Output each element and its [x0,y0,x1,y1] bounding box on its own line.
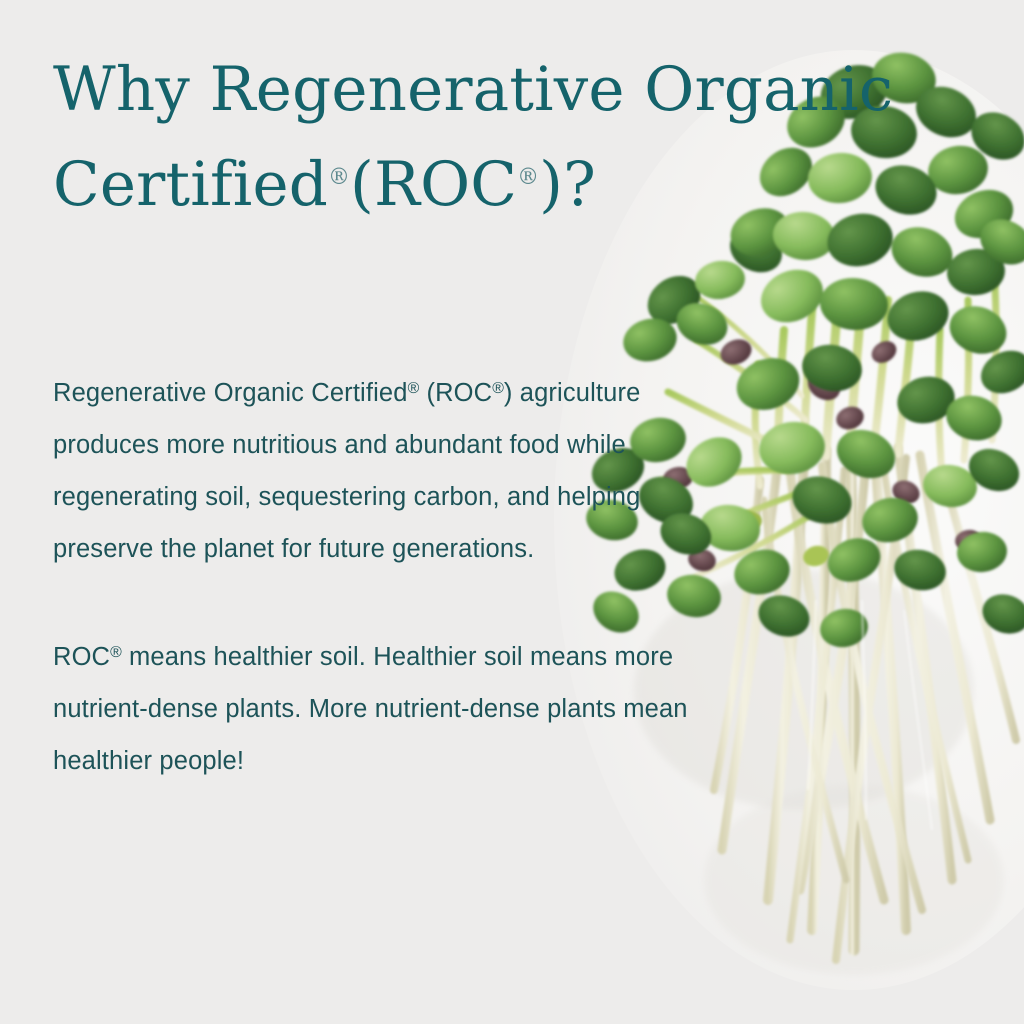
body-copy: Regenerative Organic Certified® (ROC®) a… [53,363,693,787]
p1-segment-2: (ROC [419,379,492,407]
registered-mark-icon: ® [492,380,504,397]
p1-segment-1: Regenerative Organic Certified [53,379,408,407]
text-column: Why Regenerative Organic Certified®(ROC®… [53,0,713,1024]
p2-segment-1: ROC [53,643,110,671]
headline-certified-word: Certified [53,149,328,220]
paragraph-healthier-soil: ROC® means healthier soil. Healthier soi… [53,627,693,787]
p2-segment-2: means healthier soil. Healthier soil mea… [53,643,688,775]
headline-close: )? [539,149,596,220]
headline-line-1: Why Regenerative Organic [53,54,893,125]
page-title: Why Regenerative Organic Certified®(ROC®… [53,46,903,229]
registered-mark-icon: ® [110,644,122,661]
registered-mark-icon: ® [517,165,539,190]
headline-roc-open: (ROC [350,149,517,220]
poster-canvas: Why Regenerative Organic Certified®(ROC®… [0,0,1024,1024]
registered-mark-icon: ® [328,165,350,190]
paragraph-roc-definition: Regenerative Organic Certified® (ROC®) a… [53,363,693,575]
registered-mark-icon: ® [408,380,420,397]
